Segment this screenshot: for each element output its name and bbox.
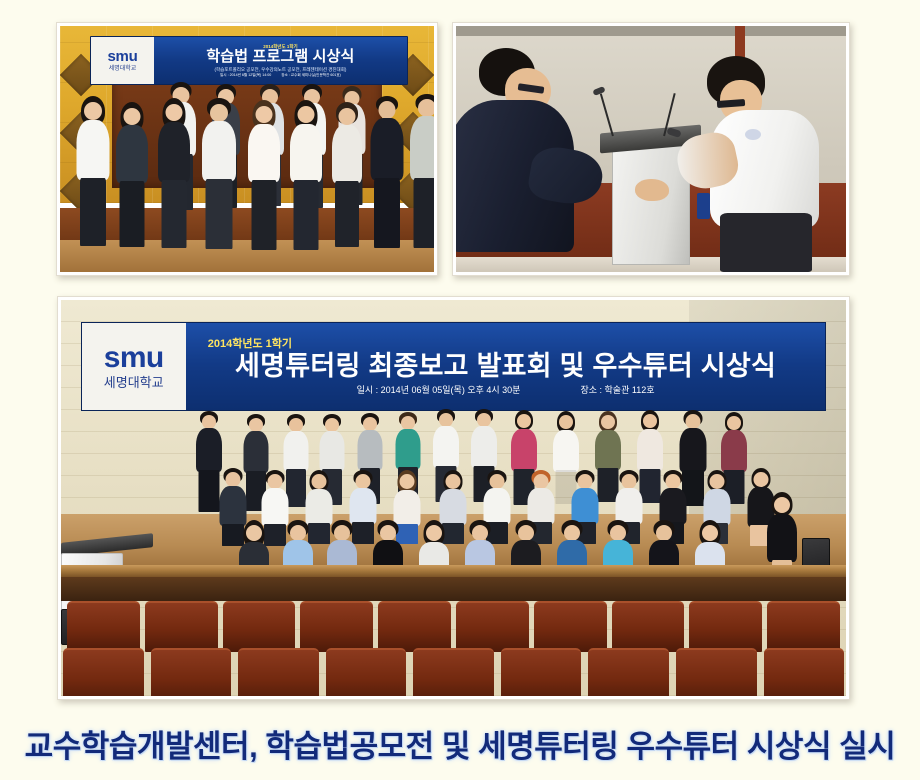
- photo-award-handshake[interactable]: [452, 22, 850, 276]
- theater-seat: [534, 601, 607, 652]
- theater-seat: [501, 648, 582, 696]
- theater-seat: [588, 648, 669, 696]
- stage-front-panel: [61, 577, 846, 601]
- theater-seat: [676, 648, 757, 696]
- person: [332, 102, 362, 248]
- photo-group-award[interactable]: smu 세명대학교 2014학년도 1학기 학습법 프로그램 시상식 (학습포트…: [56, 22, 438, 276]
- banner-date: 일시 : 2014년 06월 05일(목) 오후 4시 30분: [357, 385, 521, 395]
- smu-logo-plate: smu 세명대학교: [82, 323, 186, 410]
- smu-korean-name: 세명대학교: [109, 66, 137, 72]
- award-certificate: [697, 193, 710, 219]
- tutoring-banner: smu 세명대학교 2014학년도 1학기 세명튜터링 최종보고 발표회 및 우…: [81, 322, 827, 411]
- person: [202, 98, 236, 250]
- person-presenter: [456, 26, 620, 272]
- person: [248, 100, 280, 250]
- page-root: smu 세명대학교 2014학년도 1학기 학습법 프로그램 시상식 (학습포트…: [0, 0, 920, 780]
- banner-place: 장소 : 학술관 112호: [580, 385, 654, 395]
- smu-logo-plate: smu 세명대학교: [91, 37, 154, 84]
- banner-eyebrow: 2014학년도 1학기: [190, 338, 822, 350]
- theater-seat: [145, 601, 218, 652]
- theater-seat: [413, 648, 494, 696]
- banner-date: 일시 : 2014년 6월 12일(목) 14:00: [220, 73, 271, 77]
- theater-seat: [67, 601, 140, 652]
- smu-korean-name: 세명대학교: [104, 376, 164, 389]
- banner-title: 세명튜터링 최종보고 발표회 및 우수튜터 시상식: [190, 351, 822, 381]
- handshake-icon: [635, 179, 669, 201]
- seat-row: [61, 648, 846, 696]
- photo-group-award-canvas: smu 세명대학교 2014학년도 1학기 학습법 프로그램 시상식 (학습포트…: [60, 26, 434, 272]
- theater-seat: [326, 648, 407, 696]
- theater-seat: [238, 648, 319, 696]
- caption-bar: 교수학습개발센터, 학습법공모전 및 세명튜터링 우수튜터 시상식 실시: [0, 706, 920, 780]
- photo-handshake-canvas: [456, 26, 846, 272]
- award-banner: smu 세명대학교 2014학년도 1학기 학습법 프로그램 시상식 (학습포트…: [90, 36, 408, 85]
- seat-row: [61, 601, 846, 652]
- theater-seat: [63, 648, 144, 696]
- theater-seat: [223, 601, 296, 652]
- smu-wordmark: smu: [108, 49, 138, 64]
- theater-seat: [151, 648, 232, 696]
- award-banner-text: 2014학년도 1학기 학습법 프로그램 시상식 (학습포트폴리오 공모전, 우…: [154, 44, 407, 77]
- theater-seat: [767, 601, 840, 652]
- tutoring-banner-text: 2014학년도 1학기 세명튜터링 최종보고 발표회 및 우수튜터 시상식 일시…: [186, 338, 826, 396]
- page-caption: 교수학습개발센터, 학습법공모전 및 세명튜터링 우수튜터 시상식 실시: [25, 721, 896, 766]
- person: [158, 98, 190, 248]
- banner-title: 학습법 프로그램 시상식: [158, 49, 403, 66]
- person: [116, 102, 148, 248]
- person-recipient: [674, 26, 838, 272]
- theater-seat: [378, 601, 451, 652]
- banner-meta: 일시 : 2014년 6월 12일(목) 14:00 장소 : 교수회 세미나실…: [158, 73, 403, 77]
- theater-seat: [689, 601, 762, 652]
- person: [76, 96, 109, 246]
- banner-meta: 일시 : 2014년 06월 05일(목) 오후 4시 30분 장소 : 학술관…: [190, 385, 822, 395]
- photo-auditorium-group[interactable]: smu 세명대학교 2014학년도 1학기 세명튜터링 최종보고 발표회 및 우…: [57, 296, 850, 700]
- smu-wordmark: smu: [104, 343, 164, 373]
- person: [290, 100, 322, 250]
- banner-subtitle: (학습포트폴리오 공모전, 우수강의노트 공모전, 프레젠테이션 경진대회): [158, 67, 403, 72]
- photo-auditorium-canvas: smu 세명대학교 2014학년도 1학기 세명튜터링 최종보고 발표회 및 우…: [61, 300, 846, 696]
- stage-edge: [61, 565, 846, 577]
- theater-seat: [612, 601, 685, 652]
- person: [410, 94, 434, 248]
- theater-seat: [456, 601, 529, 652]
- recipient-trousers: [720, 213, 812, 272]
- person-in-suit: [370, 96, 403, 248]
- banner-place: 장소 : 교수회 세미나실(인문학관 601호): [281, 73, 341, 77]
- theater-seat: [764, 648, 845, 696]
- theater-seat: [300, 601, 373, 652]
